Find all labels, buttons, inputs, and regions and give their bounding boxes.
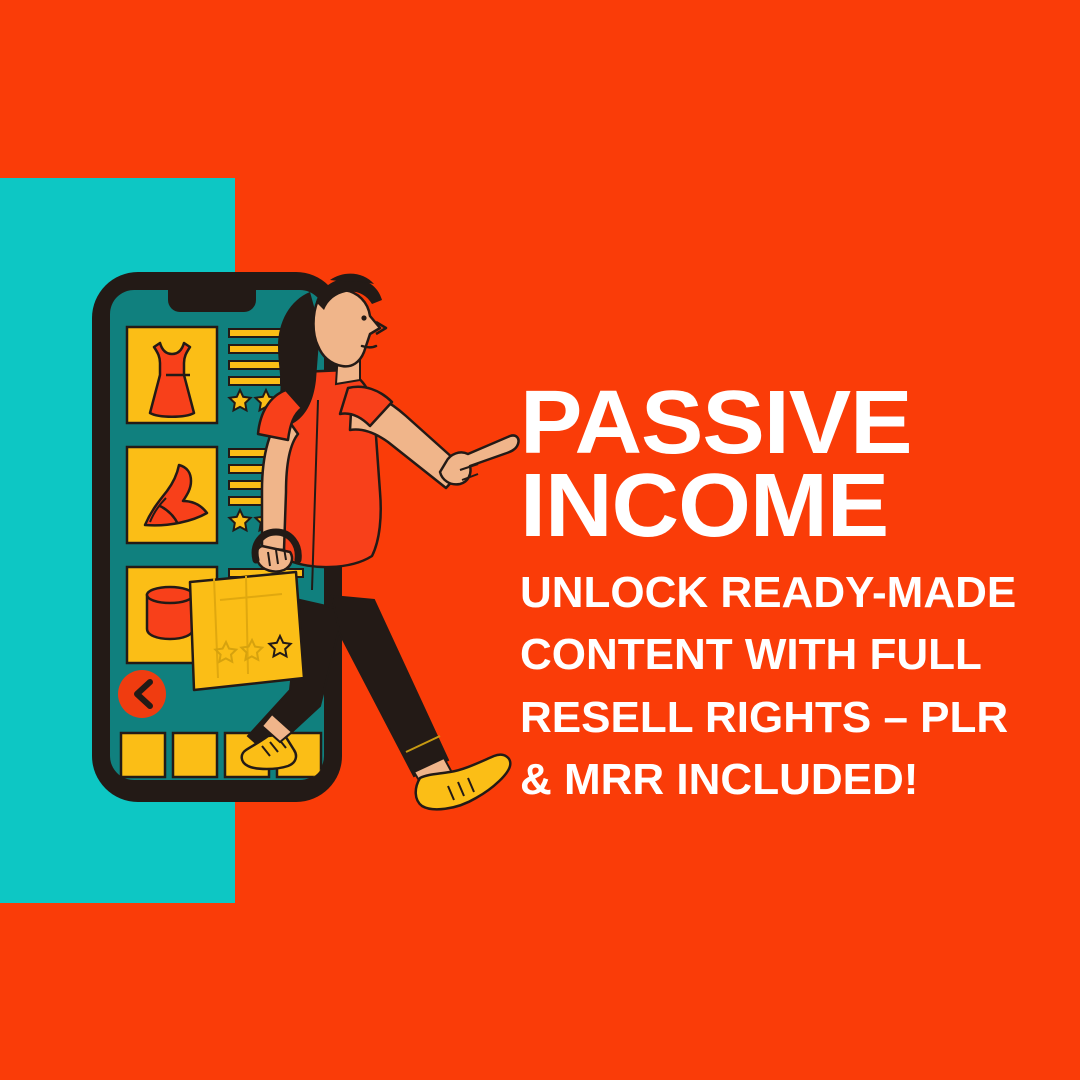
back-button[interactable] (118, 670, 166, 718)
poster-canvas: PASSIVE INCOME UNLOCK READY-MADE CONTENT… (0, 0, 1080, 1080)
page-title: PASSIVE INCOME (520, 382, 1061, 548)
headline-line-1: PASSIVE (520, 382, 1061, 465)
product-card-shoe (127, 447, 217, 543)
marketing-copy: PASSIVE INCOME UNLOCK READY-MADE CONTENT… (520, 382, 1040, 811)
subheadline: UNLOCK READY-MADE CONTENT WITH FULL RESE… (520, 562, 1020, 812)
headline-line-2: INCOME (520, 465, 1061, 548)
product-card-dress (127, 327, 217, 423)
phone-shopping-illustration (0, 0, 560, 1080)
